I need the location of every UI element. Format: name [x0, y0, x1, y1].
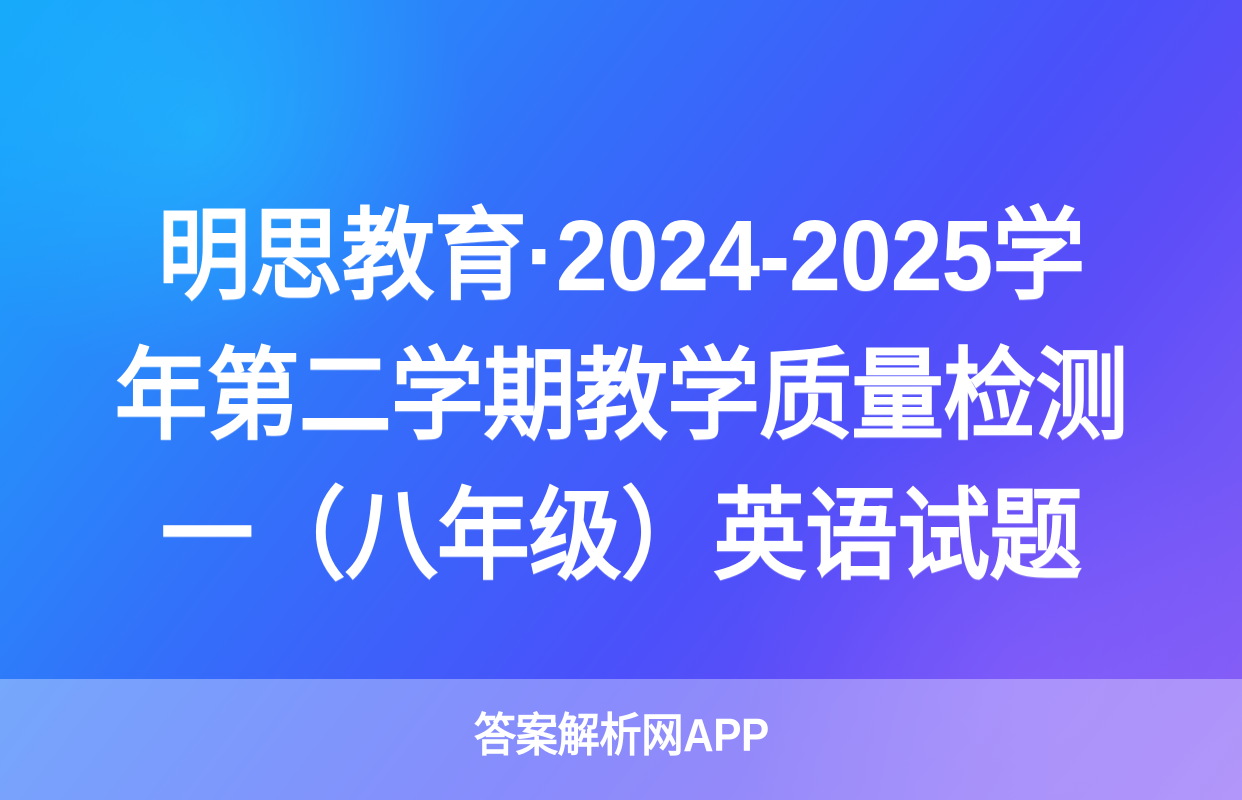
title-line-2: 年第二学期教学质量检测 — [43, 326, 1198, 466]
watermark: 答案解析网APP — [0, 707, 1242, 763]
page-title: 明思教育·2024-2025学 年第二学期教学质量检测 一（八年级）英语试题 — [0, 186, 1242, 606]
exam-cover-card: 明思教育·2024-2025学 年第二学期教学质量检测 一（八年级）英语试题 答… — [0, 0, 1242, 800]
title-line-3: 一（八年级）英语试题 — [43, 466, 1198, 606]
title-line-1: 明思教育·2024-2025学 — [43, 186, 1198, 326]
watermark-label: 答案解析网APP — [474, 707, 769, 763]
